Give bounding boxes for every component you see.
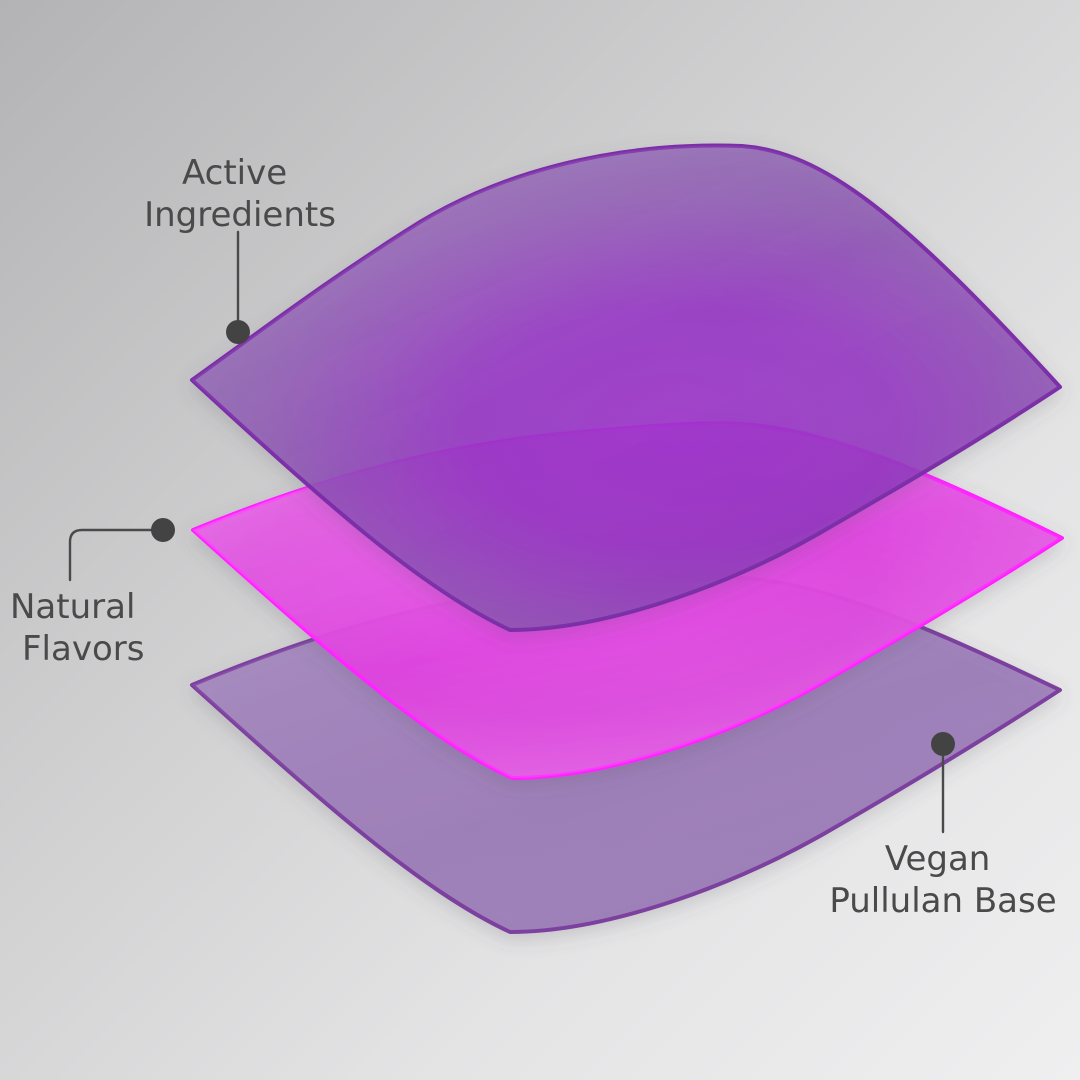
callout-vegan-pullulan-base-line-1: Vegan <box>885 839 991 879</box>
callout-natural-flavors-line-1: Natural <box>10 587 135 627</box>
diagram-canvas: Active Ingredients Natural Flavors Vegan… <box>0 0 1080 1080</box>
layered-film-diagram: Active Ingredients Natural Flavors Vegan… <box>0 0 1080 1080</box>
callout-natural-flavors-dot <box>151 518 175 542</box>
callout-natural-flavors-line-2: Flavors <box>22 629 144 669</box>
callout-active-ingredients-line-1: Active <box>182 153 287 193</box>
callout-active-ingredients-line-2: Ingredients <box>144 195 336 235</box>
callout-vegan-pullulan-base-dot <box>931 732 955 756</box>
callout-active-ingredients-dot <box>226 320 250 344</box>
callout-vegan-pullulan-base-line-2: Pullulan Base <box>829 881 1056 921</box>
